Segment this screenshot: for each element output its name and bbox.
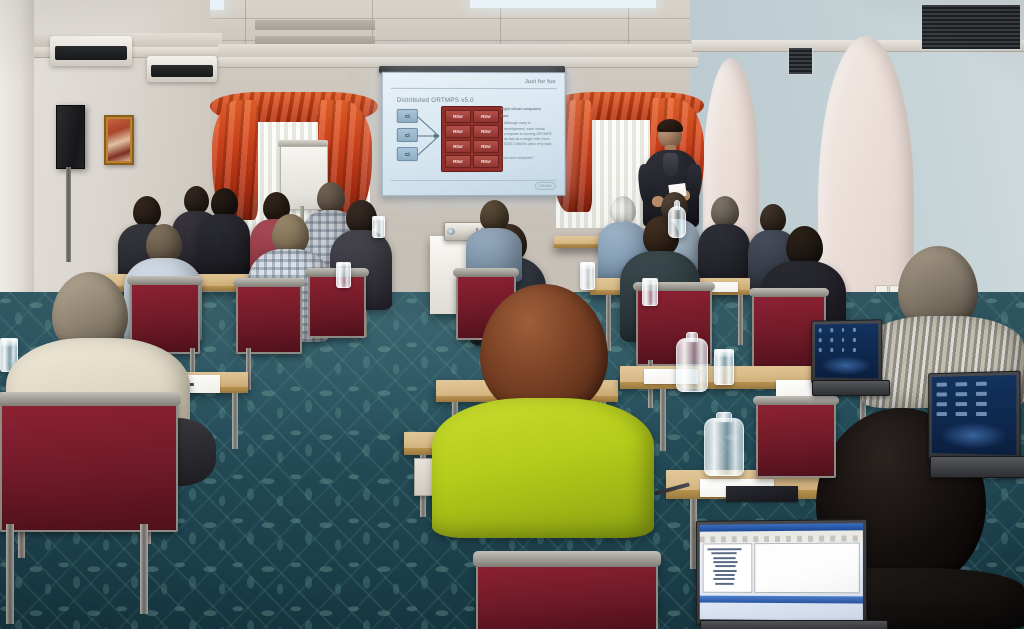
window-toolbar bbox=[700, 536, 863, 543]
screen-glow bbox=[940, 422, 1008, 450]
content-pane[interactable] bbox=[754, 543, 860, 594]
slide-title: Distributed ORTMPS v5.0 bbox=[397, 97, 474, 104]
table-leg bbox=[738, 295, 743, 345]
laptop-foreground[interactable] bbox=[694, 520, 882, 629]
air-conditioner-unit bbox=[147, 56, 217, 82]
pa-speaker bbox=[56, 105, 85, 169]
slide-bullet: Although early in development, each virt… bbox=[504, 121, 553, 147]
conference-room-photo: Just for fun Distributed ORTMPS v5.0 Cl … bbox=[0, 0, 1024, 629]
screen-glow bbox=[821, 356, 872, 375]
attendee-dark-suit bbox=[198, 188, 250, 278]
laptop-lid bbox=[811, 319, 882, 384]
framed-picture bbox=[104, 115, 134, 165]
tree-navigation-pane[interactable] bbox=[703, 543, 753, 593]
client-box: Cl bbox=[397, 109, 418, 123]
projection-screen: Just for fun Distributed ORTMPS v5.0 Cl … bbox=[382, 72, 566, 196]
drinking-glass bbox=[714, 349, 734, 385]
ceiling-light-panel bbox=[470, 0, 656, 8]
laptop-right-rear[interactable] bbox=[926, 372, 1024, 480]
table-leg bbox=[232, 393, 238, 449]
chair bbox=[0, 398, 178, 528]
chair-leg bbox=[6, 524, 14, 624]
server-box-grid: RSvr RSvr RSvr RSvr RSvr RSvr RSvr RSvr bbox=[441, 106, 503, 172]
slide-bullet-list: Eight virtual computers Fast Although ea… bbox=[501, 107, 553, 162]
slide-header-text: Just for fun bbox=[525, 79, 556, 85]
desktop-icon-grid bbox=[937, 382, 987, 416]
wall-vent-grille bbox=[788, 47, 813, 75]
projector-lens bbox=[447, 228, 454, 235]
laptop-screen[interactable] bbox=[932, 375, 1016, 455]
drinking-glass bbox=[372, 216, 385, 238]
slide-footer-rule bbox=[391, 180, 557, 181]
client-box: Cl bbox=[397, 128, 418, 142]
server-box: RSvr bbox=[445, 110, 471, 123]
attendee-head bbox=[711, 196, 739, 227]
server-box: RSvr bbox=[445, 125, 471, 138]
slide-logo: Ultimate bbox=[535, 182, 556, 190]
wall-vent-grille bbox=[921, 4, 1021, 50]
server-box: RSvr bbox=[445, 155, 471, 168]
attendee-torso bbox=[432, 398, 654, 538]
slide-bullet: Fast bbox=[501, 114, 553, 119]
attendee-head bbox=[480, 284, 608, 416]
soffit-back bbox=[218, 44, 700, 57]
presenter-shirt bbox=[663, 153, 678, 177]
laptop-left-rear[interactable] bbox=[810, 320, 886, 396]
laptop-screen[interactable] bbox=[700, 523, 863, 621]
server-box: RSvr bbox=[473, 155, 499, 168]
client-box: Cl bbox=[397, 147, 418, 161]
presenter-hair bbox=[657, 119, 683, 132]
attendee-head bbox=[133, 196, 161, 227]
laptop-lid bbox=[696, 519, 867, 627]
desktop-icon-grid bbox=[819, 328, 857, 352]
laptop-keyboard[interactable] bbox=[930, 456, 1024, 478]
chair bbox=[236, 282, 302, 350]
slide-header-rule bbox=[391, 88, 557, 89]
presentation-slide: Just for fun Distributed ORTMPS v5.0 Cl … bbox=[383, 73, 565, 195]
laptop-keyboard[interactable] bbox=[700, 620, 888, 629]
water-carafe bbox=[676, 338, 708, 392]
attendee-torso bbox=[198, 214, 250, 278]
server-box: RSvr bbox=[473, 140, 499, 153]
server-box: RSvr bbox=[473, 110, 499, 123]
speaker-stand-pole bbox=[66, 167, 71, 262]
window-status-bar bbox=[700, 596, 863, 604]
attendee-grey-head-right bbox=[698, 196, 750, 290]
attendee-green-blouse bbox=[424, 284, 664, 534]
water-carafe bbox=[704, 418, 744, 476]
laptop-lid bbox=[928, 371, 1020, 462]
slide-bullet: Eight virtual computers bbox=[501, 107, 553, 112]
chair bbox=[476, 558, 658, 629]
drinking-glass bbox=[336, 262, 351, 288]
chair-leg bbox=[140, 524, 148, 614]
server-box: RSvr bbox=[473, 125, 499, 138]
slide-closing-question: Your next computer? bbox=[501, 156, 553, 161]
server-box: RSvr bbox=[445, 140, 471, 153]
connection-arrows bbox=[417, 111, 441, 163]
chair bbox=[756, 400, 836, 474]
water-carafe bbox=[668, 206, 686, 238]
laptop-keyboard[interactable] bbox=[812, 380, 890, 396]
client-box-column: Cl Cl Cl bbox=[397, 109, 418, 161]
air-conditioner-unit bbox=[50, 36, 132, 66]
laptop-screen[interactable] bbox=[815, 323, 878, 378]
